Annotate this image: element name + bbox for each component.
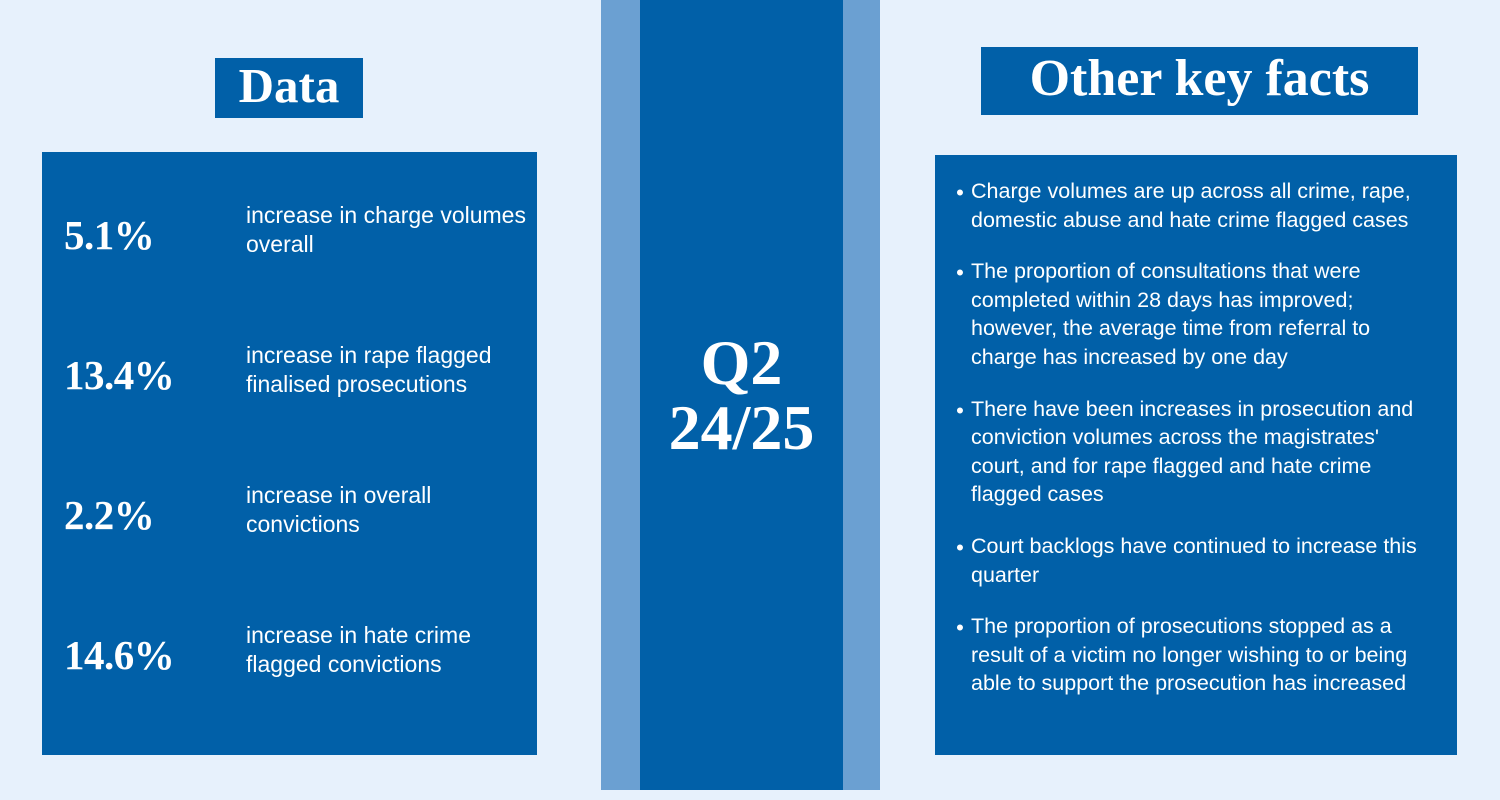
fact-text: The proportion of prosecutions stopped a… [971, 612, 1435, 698]
fact-text: The proportion of consultations that wer… [971, 257, 1435, 371]
quarter-label: Q2 24/25 [669, 330, 815, 461]
stat-row: 13.4% increase in rape flagged finalised… [42, 330, 537, 470]
list-item: • Court backlogs have continued to incre… [949, 532, 1435, 589]
stat-label: increase in hate crime flagged convictio… [246, 610, 537, 680]
stat-row: 5.1% increase in charge volumes overall [42, 190, 537, 330]
bullet-icon: • [949, 395, 971, 426]
bullet-icon: • [949, 177, 971, 208]
facts-panel: • Charge volumes are up across all crime… [935, 155, 1457, 755]
stat-label: increase in charge volumes overall [246, 190, 537, 260]
stat-label: increase in overall convictions [246, 470, 537, 540]
stat-value: 13.4% [56, 330, 246, 396]
stat-label: increase in rape flagged finalised prose… [246, 330, 537, 400]
stat-row: 14.6% increase in hate crime flagged con… [42, 610, 537, 750]
data-section-title: Data [215, 58, 363, 118]
stat-value: 5.1% [56, 190, 246, 256]
fact-text: Charge volumes are up across all crime, … [971, 177, 1435, 234]
center-accent-band-inner: Q2 24/25 [640, 0, 843, 790]
data-panel: 5.1% increase in charge volumes overall … [42, 152, 537, 755]
list-item: • The proportion of prosecutions stopped… [949, 612, 1435, 698]
stat-value: 14.6% [56, 610, 246, 676]
bullet-icon: • [949, 612, 971, 643]
facts-section-title: Other key facts [981, 47, 1418, 115]
stat-value: 2.2% [56, 470, 246, 536]
stat-row: 2.2% increase in overall convictions [42, 470, 537, 610]
list-item: • The proportion of consultations that w… [949, 257, 1435, 371]
bullet-icon: • [949, 257, 971, 288]
list-item: • Charge volumes are up across all crime… [949, 177, 1435, 234]
bullet-icon: • [949, 532, 971, 563]
fact-text: There have been increases in prosecution… [971, 395, 1435, 509]
fact-text: Court backlogs have continued to increas… [971, 532, 1435, 589]
list-item: • There have been increases in prosecuti… [949, 395, 1435, 509]
